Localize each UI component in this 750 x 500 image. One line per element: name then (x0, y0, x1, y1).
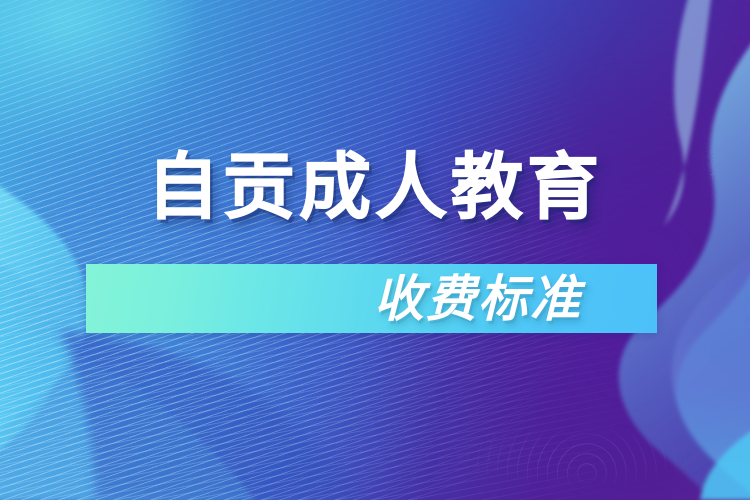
banner-subtitle: 收费标准 (374, 273, 582, 325)
banner-canvas: 自贡成人教育 收费标准 (0, 0, 750, 500)
banner-title: 自贡成人教育 (0, 152, 750, 224)
